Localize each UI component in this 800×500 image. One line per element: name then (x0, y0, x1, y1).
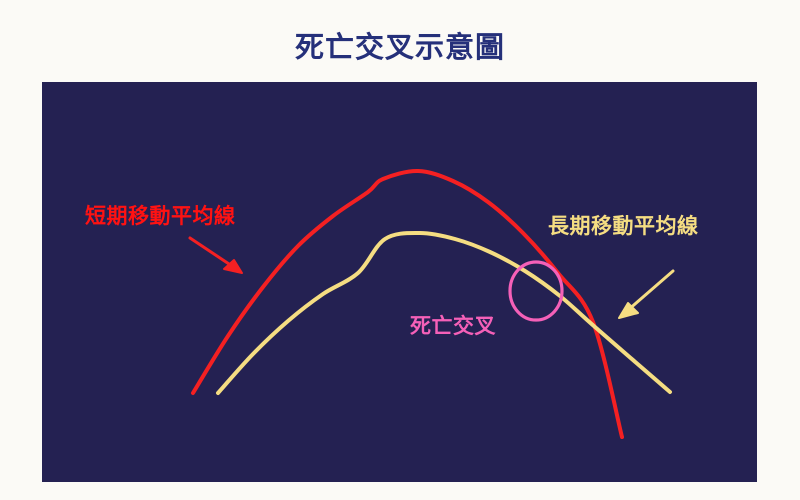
long-ma-label: 長期移動平均線 (548, 213, 699, 239)
short-ma-label: 短期移動平均線 (85, 203, 236, 229)
plot-svg (42, 82, 757, 482)
death-cross-label: 死亡交叉 (410, 313, 496, 339)
plot-panel: 短期移動平均線 長期移動平均線 死亡交叉 (42, 82, 757, 482)
long-ma-arrow-icon (619, 271, 673, 318)
short-ma-arrow-icon (190, 238, 242, 273)
page-title: 死亡交叉示意圖 (0, 27, 800, 67)
death-cross-diagram: 死亡交叉示意圖 短期移動平均線 長期移動平均線 死亡交叉 (0, 0, 800, 500)
